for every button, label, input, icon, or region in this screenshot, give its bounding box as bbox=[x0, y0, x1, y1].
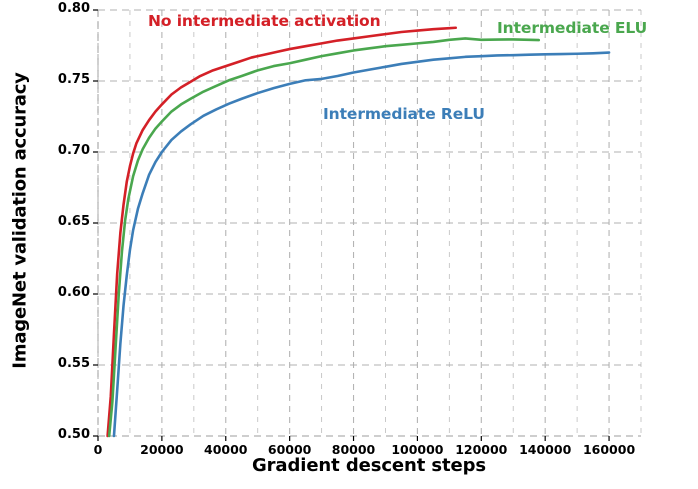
series-label-1: Intermediate ELU bbox=[497, 19, 647, 37]
y-tick-label: 0.55 bbox=[34, 356, 90, 371]
y-tick-label: 0.70 bbox=[34, 143, 90, 158]
y-tick-label: 0.80 bbox=[34, 1, 90, 16]
y-tick-label: 0.60 bbox=[34, 285, 90, 300]
x-axis-label: Gradient descent steps bbox=[98, 455, 640, 476]
gridlines-group bbox=[98, 10, 641, 436]
y-tick-label: 0.65 bbox=[34, 214, 90, 229]
y-tick-label: 0.50 bbox=[34, 427, 90, 442]
y-tick-label: 0.75 bbox=[34, 72, 90, 87]
series-line-0 bbox=[108, 28, 456, 436]
series-line-1 bbox=[109, 38, 539, 436]
chart-figure: ImageNet validation accuracy 0.500.550.6… bbox=[0, 0, 698, 489]
plot-area-svg bbox=[0, 0, 698, 489]
series-label-0: No intermediate activation bbox=[148, 12, 381, 30]
tick-marks-group bbox=[93, 10, 609, 441]
series-lines-group bbox=[108, 28, 609, 436]
series-label-2: Intermediate ReLU bbox=[323, 105, 485, 123]
